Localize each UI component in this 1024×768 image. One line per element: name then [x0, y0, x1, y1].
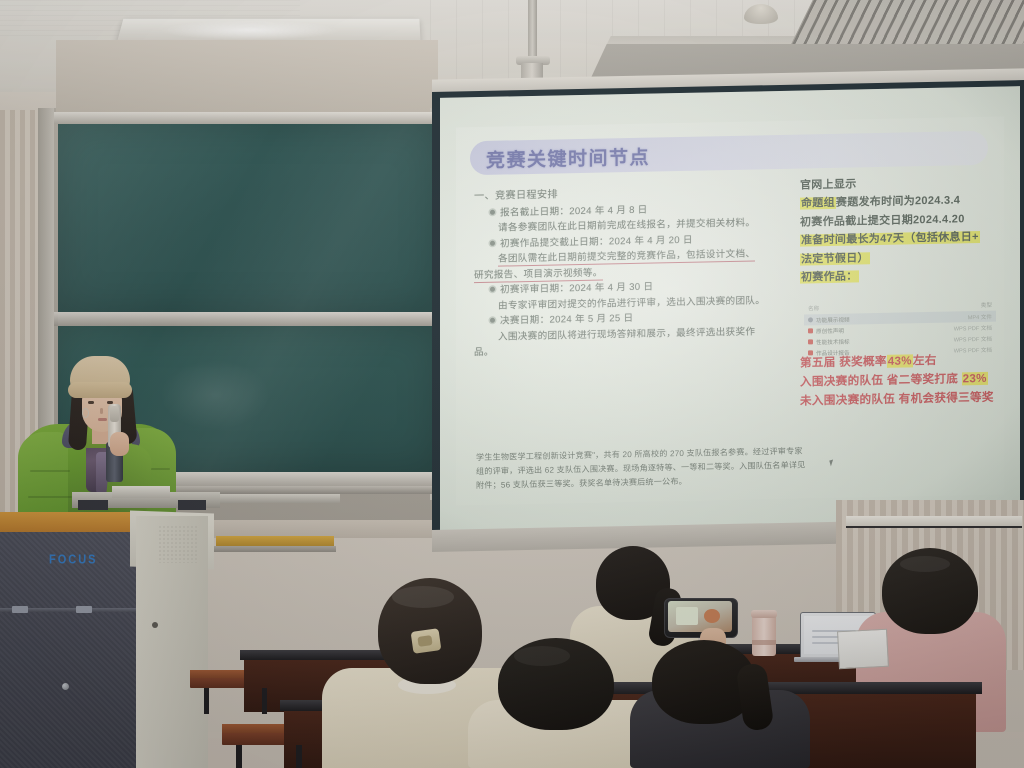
paper-sheet [837, 629, 889, 670]
col-type: 类型 [981, 301, 992, 309]
pdf-icon [808, 328, 813, 333]
console-port [152, 622, 158, 628]
bullet-icon [490, 318, 495, 323]
speaker-grille-icon [158, 525, 198, 563]
slide-red-notes: 第五届 获奖概率43%左右 入围决赛的队伍 省二等奖打底 23% 未入围决赛的队… [800, 350, 1010, 411]
mouse-cursor-icon [829, 459, 834, 466]
blackboard-header-panel [56, 40, 438, 112]
blackboard-middle-rail[interactable] [54, 312, 442, 326]
thermos-band [752, 640, 776, 645]
bullet-icon [490, 287, 495, 292]
blackboard-panel-upper[interactable] [58, 124, 438, 312]
thermos-cap [751, 610, 777, 618]
file-type: WPS PDF 文档 [954, 334, 992, 343]
chalk-smudge [160, 360, 270, 430]
wall-whiteboard-edge [846, 516, 1022, 528]
file-list-table: 名称 类型 功能展示视频 MP4 文件 原创性声明 WPS PDF 文档 性能技… [804, 301, 996, 359]
classroom-photo: 竞赛关键时间节点 一、竞赛日程安排 报名截止日期：2024 年 4 月 8 日 … [0, 0, 1024, 768]
front-desk-rail [200, 494, 340, 503]
slide-left-column: 一、竞赛日程安排 报名截止日期：2024 年 4 月 8 日 请各参赛团队在此日… [474, 183, 792, 361]
video-icon [808, 317, 813, 322]
highlight-mark: 43% [887, 354, 913, 368]
slide-right-column: 官网上显示 命题组赛题发布时间为2024.3.4 初赛作品截止提交日期2024.… [800, 173, 996, 288]
podium-desk-riser [112, 486, 170, 498]
wooden-shelf [216, 536, 334, 546]
presenter-hand [110, 432, 129, 456]
podium-texture [0, 532, 136, 768]
presenter-hat-brim [68, 382, 132, 398]
file-type: MP4 文件 [968, 312, 992, 320]
thermos-cup[interactable] [752, 614, 776, 656]
wooden-shelf-frame [200, 546, 336, 552]
col-name: 名称 [808, 304, 819, 312]
presenter-nose [100, 408, 103, 414]
ceiling-light-glow [160, 20, 340, 40]
bullet-icon [490, 240, 495, 245]
podium-desk-bracket-right [178, 500, 206, 510]
presenter-jacket-left [18, 432, 68, 522]
blackboard-top-rail[interactable] [54, 112, 442, 124]
podium-top [0, 512, 142, 534]
file-type: WPS PDF 文档 [954, 323, 992, 332]
red-note-2: 未入围决赛的队伍 有机会获得三等奖 [800, 388, 1010, 411]
podium-brand-logo: FOCUS [49, 553, 98, 567]
bullet-icon [490, 209, 495, 214]
right-note-5: 初赛作品： [800, 265, 996, 287]
microphone-head [110, 406, 119, 422]
projection-screen[interactable]: 竞赛关键时间节点 一、竞赛日程安排 报名截止日期：2024 年 4 月 8 日 … [440, 86, 1020, 535]
earring-icon [82, 408, 89, 418]
highlight-mark: 23% [962, 372, 988, 386]
projector-mount-pole [528, 0, 537, 62]
presenter-mouth [98, 418, 107, 421]
smoke-detector-icon [744, 4, 778, 24]
hair-sheen [392, 586, 454, 608]
highlight-mark: 命题组 [800, 197, 836, 210]
highlight-mark: 法定节假日） [800, 252, 870, 265]
slide-footnote: 学生生物医学工程创新设计竞赛"，共有 20 所高校的 270 支队伍报名参赛。经… [476, 444, 806, 493]
podium-desk-bracket-left [78, 500, 108, 510]
phone-screen [668, 601, 732, 632]
highlight-mark: 初赛作品： [800, 271, 859, 284]
podium-lock-knob[interactable] [62, 683, 69, 690]
presentation-slide: 竞赛关键时间节点 一、竞赛日程安排 报名截止日期：2024 年 4 月 8 日 … [456, 116, 1004, 505]
highlight-mark: 准备时间最长为47天（包括休息日+ [800, 231, 980, 247]
hair-highlight [900, 556, 950, 572]
right-note-3: 准备时间最长为47天（包括休息日+ [800, 228, 996, 250]
slide-title: 竞赛关键时间节点 [486, 143, 650, 173]
presenter-eye-left [88, 401, 94, 404]
pdf-icon [808, 339, 813, 344]
